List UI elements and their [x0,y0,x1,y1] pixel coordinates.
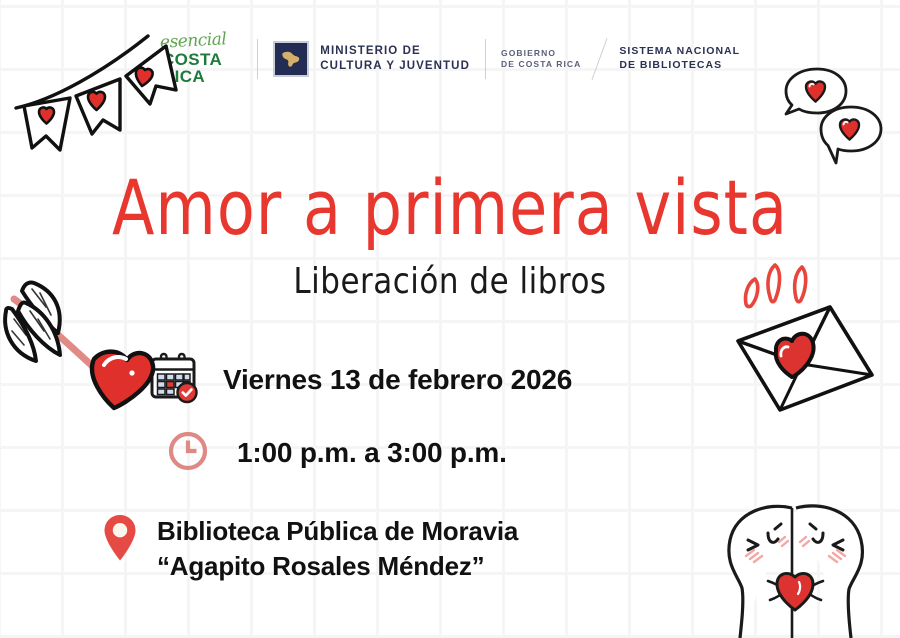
sinabi-line-1: SISTEMA NACIONAL [619,45,740,59]
event-location-lines: Biblioteca Pública de Moravia “Agapito R… [157,514,518,583]
event-time-row: 1:00 p.m. a 3:00 p.m. [167,430,507,476]
logo-divider-3 [587,37,613,81]
location-pin-icon [100,512,140,568]
event-location-line-1: Biblioteca Pública de Moravia [157,514,518,549]
logo-sistema-nacional-bibliotecas: SISTEMA NACIONAL DE BIBLIOTECAS [619,45,740,73]
heart-bunting-decor [8,24,183,169]
ministerio-line-1: MINISTERIO DE [320,44,470,59]
gobierno-line-2: DE COSTA RICA [501,59,581,70]
gobierno-text-block: GOBIERNO DE COSTA RICA [501,48,581,70]
clock-icon [167,430,209,476]
event-poster: esencial COSTA RICA MINISTERIO DE CULTUR… [0,0,900,638]
event-date-row: Viernes 13 de febrero 2026 [148,352,572,408]
cupid-arrow-heart-decor [0,277,174,422]
gobierno-line-1: GOBIERNO [501,48,581,59]
event-location-line-2: “Agapito Rosales Méndez” [157,549,518,584]
couple-with-heart-decor [712,488,900,638]
sinabi-line-2: DE BIBLIOTECAS [619,59,740,73]
costa-rica-map-icon [273,41,309,77]
logo-divider-1 [257,39,258,79]
logo-ministerio-cultura-juventud: MINISTERIO DE CULTURA Y JUVENTUD [273,41,470,77]
love-letter-envelope-decor [722,252,900,422]
event-location-row: Biblioteca Pública de Moravia “Agapito R… [100,512,518,583]
event-time-text: 1:00 p.m. a 3:00 p.m. [237,437,507,469]
poster-title: Amor a primera vista [0,163,900,252]
heart-speech-bubbles-decor [778,66,890,168]
ministerio-line-2: CULTURA Y JUVENTUD [320,59,470,74]
sinabi-text-block: SISTEMA NACIONAL DE BIBLIOTECAS [619,45,740,73]
ministerio-text-block: MINISTERIO DE CULTURA Y JUVENTUD [320,44,470,74]
logo-gobierno-costa-rica: GOBIERNO DE COSTA RICA [501,48,581,70]
logo-divider-2 [485,39,486,79]
event-date-text: Viernes 13 de febrero 2026 [223,364,572,396]
